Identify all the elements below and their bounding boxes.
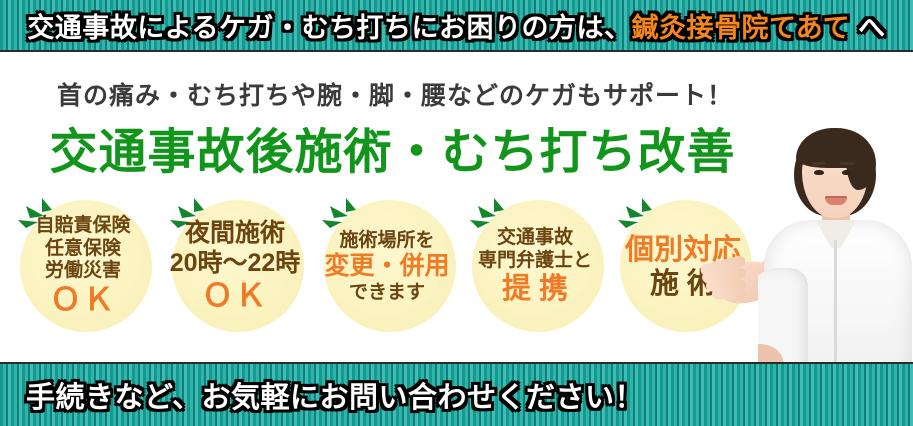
clinic-promo-banner: 交通事故によるケガ・むち打ちにお困りの方は、鍼灸接骨院てあて へ 首の痛み・むち… (0, 0, 913, 426)
feature-line-emphasis: 個別対応 (625, 233, 741, 267)
feature-item-insurance: 自賠責保険 任意保険 労働災害 ＯＫ (8, 192, 158, 342)
bottom-bar-text: 手続きなど、お気軽にお問い合わせください！ (0, 374, 913, 416)
feature-text-block: 個別対応 施 術 (608, 192, 758, 342)
feature-line-ok: ＯＫ (50, 282, 116, 319)
top-headline-bar: 交通事故によるケガ・むち打ちにお困りの方は、鍼灸接骨院てあて へ (0, 0, 913, 52)
feature-line: 交通事故 (497, 227, 573, 249)
feature-line: 任意保険 (45, 238, 121, 260)
feature-text-block: 自賠責保険 任意保険 労働災害 ＯＫ (8, 192, 158, 342)
bottom-cta-bar: 手続きなど、お気軽にお問い合わせください！ (0, 362, 913, 426)
subtitle-text: 首の痛み・むち打ちや腕・脚・腰などのケガもサポート！ (0, 76, 790, 112)
feature-text-block: 交通事故 専門弁護士と 提 携 (460, 192, 610, 342)
feature-text-block: 施術場所を 変更・併用 できます (312, 192, 462, 342)
feature-item-individual-treatment: 個別対応 施 術 (608, 192, 758, 342)
feature-line: 自賠責保険 (35, 215, 130, 237)
main-content-area: 首の痛み・むち打ちや腕・脚・腰などのケガもサポート！ 交通事故後施術・むち打ち改… (0, 54, 913, 362)
feature-line: できます (349, 282, 425, 304)
feature-item-lawyer-partnership: 交通事故 専門弁護士と 提 携 (460, 192, 610, 342)
feature-line-emphasis: 変更・併用 (324, 252, 449, 282)
feature-line: 施 術 (650, 267, 716, 301)
feature-line: 夜間施術 (185, 219, 285, 249)
feature-line: 専門弁護士と (478, 250, 592, 272)
top-bar-text: 交通事故によるケガ・むち打ちにお困りの方は、鍼灸接骨院てあて へ (0, 6, 913, 45)
feature-line: 20時〜22時 (170, 249, 301, 279)
feature-list: 自賠責保険 任意保険 労働災害 ＯＫ 夜間施術 20時〜22時 ＯＫ (8, 192, 798, 342)
feature-line-emphasis: 提 携 (502, 272, 568, 306)
top-bar-trailing-text: へ (850, 13, 886, 43)
feature-line: 労働災害 (45, 260, 121, 282)
feature-line-ok: ＯＫ (202, 278, 268, 315)
feature-item-location-change: 施術場所を 変更・併用 できます (312, 192, 462, 342)
feature-line: 施術場所を (339, 230, 434, 252)
feature-item-night-treatment: 夜間施術 20時〜22時 ＯＫ (160, 192, 310, 342)
clinic-name-highlight: 鍼灸接骨院てあて (632, 13, 851, 43)
top-bar-lead-text: 交通事故によるケガ・むち打ちにお困りの方は、 (27, 13, 631, 43)
main-headline: 交通事故後施術・むち打ち改善 (0, 112, 785, 182)
feature-text-block: 夜間施術 20時〜22時 ＯＫ (160, 192, 310, 342)
